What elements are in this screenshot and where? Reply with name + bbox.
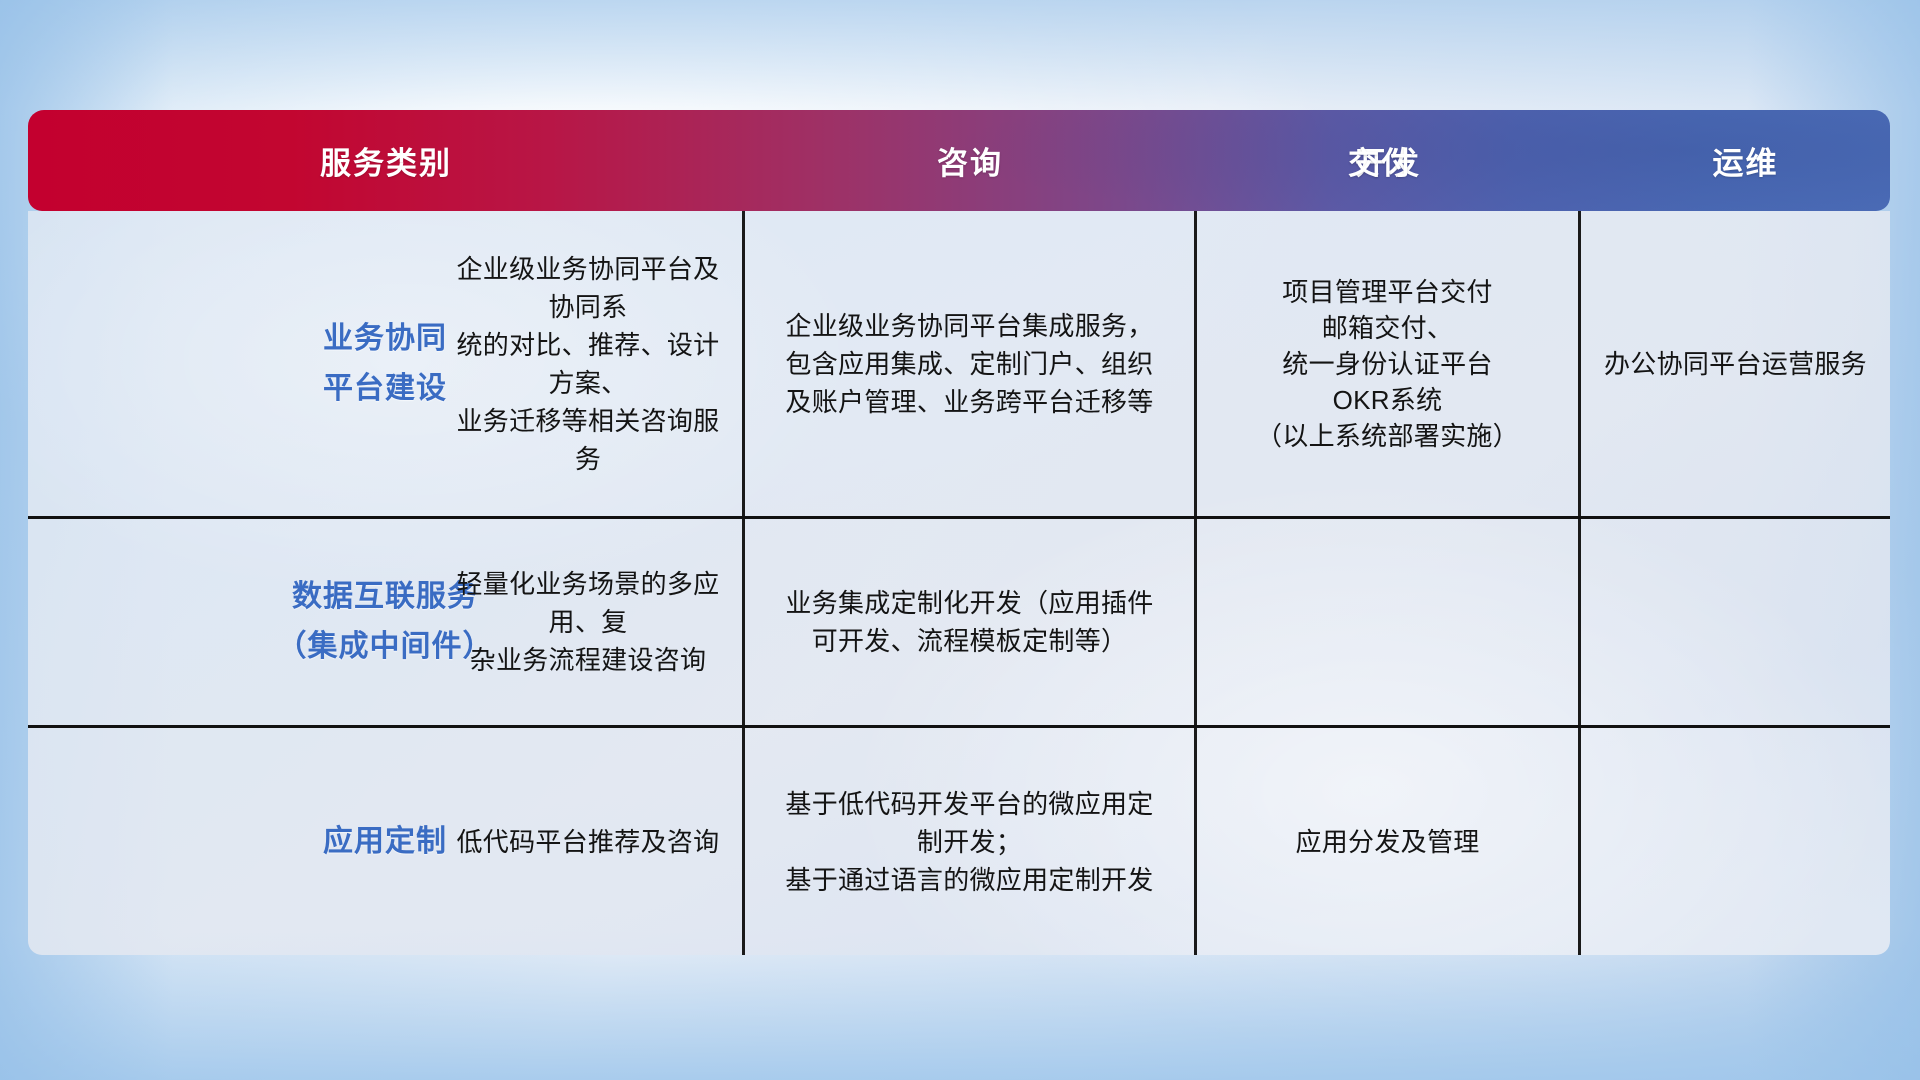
- table-header-row: 服务类别 咨询 开发 交付 运维: [28, 110, 1890, 211]
- column-header-category-label: 服务类别: [320, 138, 452, 183]
- cell-r2-development: 业务集成定制化开发（应用插件 可开发、流程模板定制等）: [745, 519, 1194, 725]
- column-header-category[interactable]: 服务类别: [28, 110, 744, 211]
- cell-r3-delivery: 应用分发及管理: [1197, 728, 1578, 955]
- cell-r2-development-text: 业务集成定制化开发（应用插件 可开发、流程模板定制等）: [759, 584, 1180, 660]
- cell-r3-consulting-text: 低代码平台推荐及咨询: [448, 823, 728, 861]
- cell-r1-consulting: 企业级业务协同平台及协同系 统的对比、推荐、设计方案、 业务迁移等相关咨询服务: [28, 211, 742, 516]
- column-header-operations-label: 运维: [1713, 138, 1779, 183]
- cell-r1-operations: 办公协同平台运营服务: [1581, 211, 1890, 516]
- cell-r1-delivery-text: 项目管理平台交付 邮箱交付、 统一身份认证平台 OKR系统 （以上系统部署实施）: [1211, 274, 1564, 454]
- cell-r3-operations: [1581, 728, 1890, 955]
- column-header-consulting-label: 咨询: [937, 138, 1003, 183]
- cell-r2-consulting-text: 轻量化业务场景的多应用、复 杂业务流程建设咨询: [448, 565, 728, 679]
- cell-r3-development-text: 基于低代码开发平台的微应用定 制开发； 基于通过语言的微应用定制开发: [759, 785, 1180, 899]
- cell-r1-operations-text: 办公协同平台运营服务: [1595, 345, 1876, 383]
- column-header-delivery[interactable]: 交付: [1161, 110, 1601, 211]
- service-matrix-table: 服务类别 咨询 开发 交付 运维 业务协同 平台建设 企业级业务协同平台及协同系: [28, 110, 1890, 955]
- cell-r3-delivery-text: 应用分发及管理: [1211, 823, 1564, 861]
- cell-r1-delivery: 项目管理平台交付 邮箱交付、 统一身份认证平台 OKR系统 （以上系统部署实施）: [1197, 211, 1578, 516]
- cell-r1-consulting-text: 企业级业务协同平台及协同系 统的对比、推荐、设计方案、 业务迁移等相关咨询服务: [448, 250, 728, 478]
- cell-r2-operations: [1581, 519, 1890, 725]
- cell-r3-consulting: 低代码平台推荐及咨询: [28, 728, 742, 955]
- cell-r1-development: 企业级业务协同平台集成服务， 包含应用集成、定制门户、组织 及账户管理、业务跨平…: [745, 211, 1194, 516]
- cell-r1-development-text: 企业级业务协同平台集成服务， 包含应用集成、定制门户、组织 及账户管理、业务跨平…: [759, 307, 1180, 421]
- column-header-operations[interactable]: 运维: [1601, 110, 1890, 211]
- column-header-delivery-label: 交付: [1348, 138, 1414, 183]
- table-body: 业务协同 平台建设 企业级业务协同平台及协同系 统的对比、推荐、设计方案、 业务…: [28, 211, 1890, 955]
- cell-r2-delivery: [1197, 519, 1578, 725]
- cell-r3-development: 基于低代码开发平台的微应用定 制开发； 基于通过语言的微应用定制开发: [745, 728, 1194, 955]
- column-header-consulting[interactable]: 咨询: [744, 110, 1196, 211]
- cell-r2-consulting: 轻量化业务场景的多应用、复 杂业务流程建设咨询: [28, 519, 742, 725]
